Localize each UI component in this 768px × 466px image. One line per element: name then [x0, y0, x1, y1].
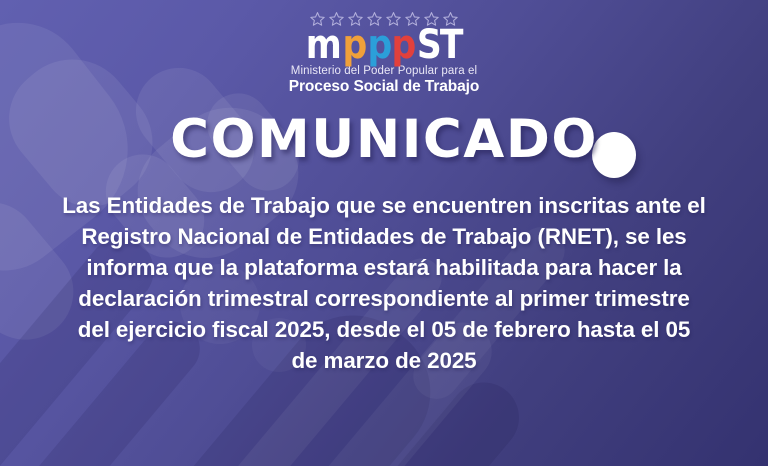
page-title: COMUNICADO: [170, 113, 598, 166]
wordmark-letter-p3: p: [392, 28, 416, 62]
logo-wordmark: m p p p ST: [305, 28, 462, 62]
wordmark-letter-p1: p: [342, 28, 366, 62]
poster-content: m p p p ST Ministerio del Poder Popular …: [0, 0, 768, 466]
wordmark-letter-p2: p: [367, 28, 391, 62]
logo-subtitle-line2: Proceso Social de Trabajo: [289, 78, 479, 96]
announcement-body: Las Entidades de Trabajo que se encuentr…: [62, 190, 706, 376]
wordmark-letter-m: m: [306, 28, 341, 62]
comunicado-poster: m p p p ST Ministerio del Poder Popular …: [0, 0, 768, 466]
mpppst-logo: m p p p ST Ministerio del Poder Popular …: [268, 11, 500, 96]
wordmark-letters-st: ST: [417, 28, 462, 62]
